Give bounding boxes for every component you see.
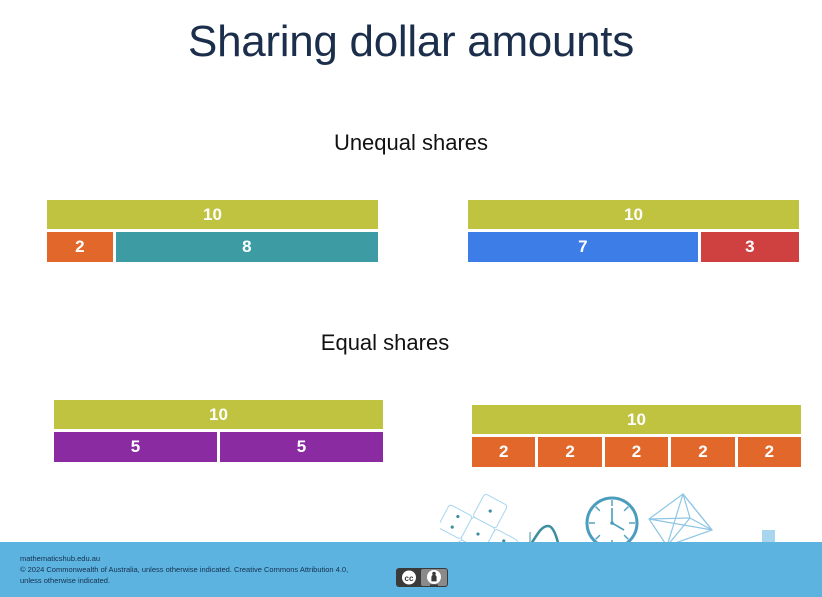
bar-row-whole: 10 [472, 405, 801, 434]
bar-row-whole: 10 [54, 400, 383, 429]
bar-segment-part: 7 [468, 232, 698, 262]
bar-segment-part: 5 [54, 432, 217, 462]
bar-model-equal-left: 10 5 5 [54, 400, 383, 462]
bar-segment-part: 2 [538, 437, 601, 467]
footer-site-url: mathematicshub.edu.au [20, 554, 400, 565]
clock-icon [587, 498, 637, 548]
section-heading-equal: Equal shares [0, 330, 770, 356]
bar-model-equal-right: 10 2 2 2 2 2 [472, 405, 801, 467]
bar-segment-part: 2 [738, 437, 801, 467]
bar-row-parts: 7 3 [468, 232, 799, 262]
page-title: Sharing dollar amounts [0, 14, 822, 69]
octahedron-icon [649, 494, 712, 546]
footer-copyright-cont: unless otherwise indicated. [20, 576, 400, 587]
slide: Sharing dollar amounts Unequal shares 10… [0, 0, 822, 597]
bar-segment-part: 8 [116, 232, 378, 262]
bar-segment-part: 5 [220, 432, 383, 462]
bar-model-unequal-left: 10 2 8 [47, 200, 378, 262]
bar-segment-whole: 10 [472, 405, 801, 434]
footer-copyright: © 2024 Commonwealth of Australia, unless… [20, 565, 400, 576]
bar-model-unequal-right: 10 7 3 [468, 200, 799, 262]
bar-segment-part: 2 [605, 437, 668, 467]
svg-text:cc: cc [405, 574, 414, 583]
bar-segment-part: 2 [472, 437, 535, 467]
bar-segment-part: 2 [47, 232, 113, 262]
bar-row-parts: 2 2 2 2 2 [472, 437, 801, 467]
bar-segment-whole: 10 [47, 200, 378, 229]
cc-circle-icon: cc [402, 571, 416, 585]
bar-row-whole: 10 [468, 200, 799, 229]
footer-attribution: mathematicshub.edu.au © 2024 Commonwealt… [20, 554, 400, 587]
bar-row-parts: 5 5 [54, 432, 383, 462]
section-heading-unequal: Unequal shares [0, 130, 822, 156]
bar-segment-whole: 10 [468, 200, 799, 229]
cc-by-licence-badge: cc [396, 568, 448, 587]
bar-row-parts: 2 8 [47, 232, 378, 262]
bar-segment-whole: 10 [54, 400, 383, 429]
bar-row-whole: 10 [47, 200, 378, 229]
bar-segment-part: 2 [671, 437, 734, 467]
bar-segment-part: 3 [701, 232, 799, 262]
